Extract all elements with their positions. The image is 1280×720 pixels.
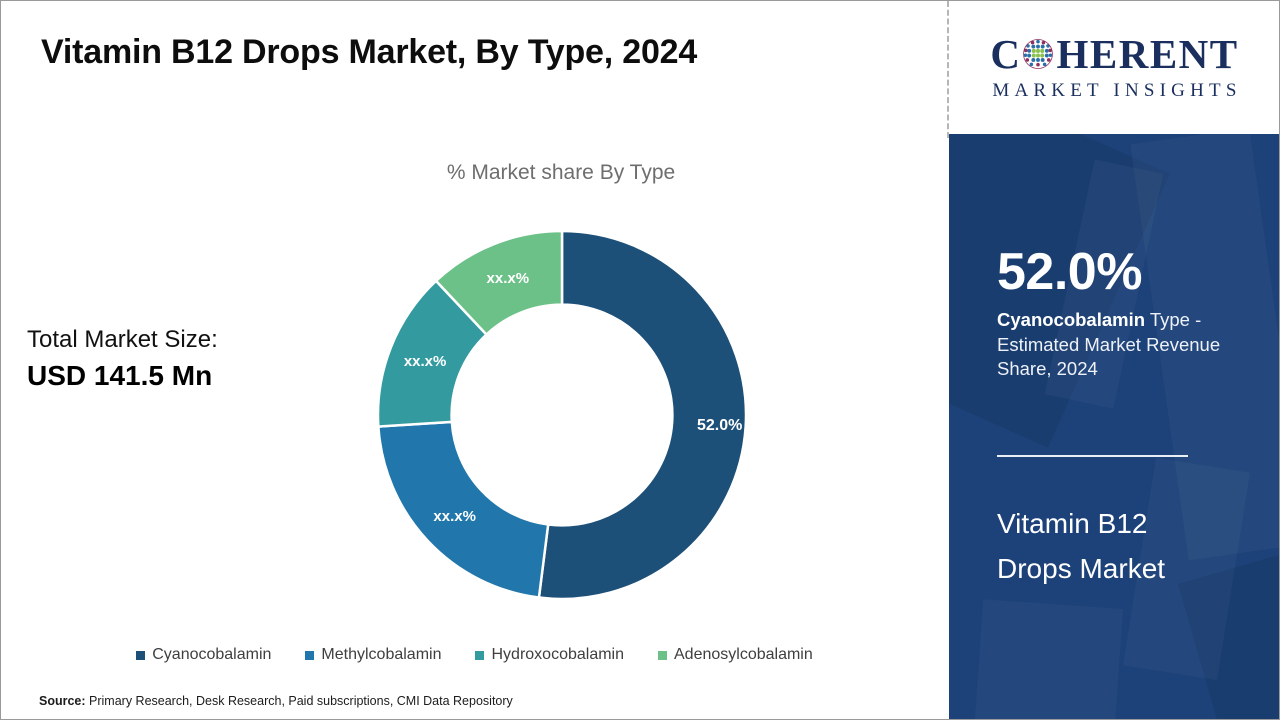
legend-item: Hydroxocobalamin [475, 646, 624, 664]
logo-wordmark: C [990, 34, 1238, 75]
panel-market-name: Vitamin B12 Drops Market [997, 502, 1259, 592]
logo-word-rest: HERENT [1056, 34, 1238, 75]
donut-slices [378, 231, 746, 599]
legend-label: Methylcobalamin [321, 646, 441, 664]
panel-texture [975, 599, 1123, 719]
legend-item: Cyanocobalamin [136, 646, 271, 664]
legend-swatch-icon [136, 651, 145, 660]
legend-item: Methylcobalamin [305, 646, 441, 664]
highlight-panel: 52.0% Cyanocobalamin Type - Estimated Ma… [949, 134, 1280, 719]
right-column: C [949, 1, 1280, 719]
legend-label: Hydroxocobalamin [491, 646, 624, 664]
total-market-size-block: Total Market Size: USD 141.5 Mn [27, 325, 327, 394]
legend-item: Adenosylcobalamin [658, 646, 813, 664]
stat-number: 52.0% [997, 246, 1249, 298]
source-text: Primary Research, Desk Research, Paid su… [86, 694, 513, 708]
donut-slice-label: xx.x% [487, 270, 530, 287]
legend-swatch-icon [305, 651, 314, 660]
donut-slice-label: 52.0% [697, 417, 742, 434]
brand-logo: C [949, 1, 1280, 134]
donut-chart-svg: 52.0%xx.x%xx.x%xx.x% [376, 229, 748, 601]
chart-legend: Cyanocobalamin Methylcobalamin Hydroxoco… [1, 646, 948, 664]
logo-subtitle: MARKET INSIGHTS [987, 80, 1241, 102]
legend-label: Cyanocobalamin [152, 646, 271, 664]
globe-dots-icon [1021, 37, 1055, 71]
donut-slice-label: xx.x% [404, 353, 447, 370]
panel-market-name-line2: Drops Market [997, 547, 1259, 592]
total-market-size-value: USD 141.5 Mn [27, 358, 327, 394]
panel-market-name-line1: Vitamin B12 [997, 502, 1259, 547]
page-title: Vitamin B12 Drops Market, By Type, 2024 [41, 33, 901, 72]
donut-chart: 52.0%xx.x%xx.x%xx.x% [376, 229, 748, 601]
infographic-page: Vitamin B12 Drops Market, By Type, 2024 … [0, 0, 1280, 720]
total-market-size-label: Total Market Size: [27, 325, 327, 356]
chart-subtitle: % Market share By Type [301, 161, 821, 185]
logo-letter-c: C [990, 34, 1021, 75]
panel-stat-block: 52.0% Cyanocobalamin Type - Estimated Ma… [997, 246, 1249, 382]
panel-divider [997, 455, 1188, 457]
stat-type-name: Cyanocobalamin [997, 309, 1145, 330]
legend-swatch-icon [658, 651, 667, 660]
legend-label: Adenosylcobalamin [674, 646, 813, 664]
stat-description: Cyanocobalamin Type - Estimated Market R… [997, 308, 1249, 382]
donut-slice-label: xx.x% [433, 508, 476, 525]
source-line: Source: Primary Research, Desk Research,… [39, 694, 513, 708]
source-prefix: Source: [39, 694, 86, 708]
legend-swatch-icon [475, 651, 484, 660]
donut-slice [539, 231, 746, 599]
chart-region: Vitamin B12 Drops Market, By Type, 2024 … [1, 1, 948, 719]
